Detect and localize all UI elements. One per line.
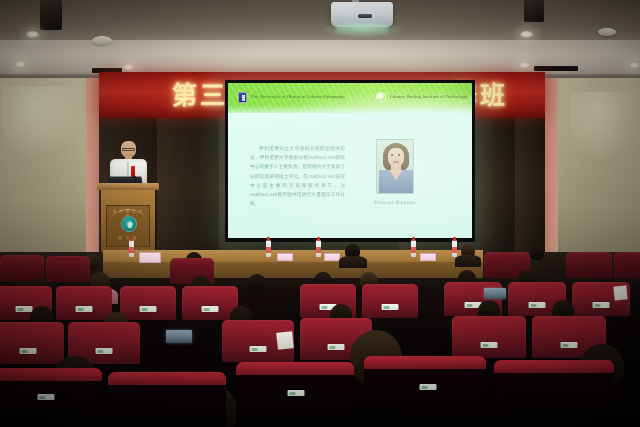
portrait-mouth [393,161,399,163]
water-bottle [316,240,321,257]
downlight-5 [518,62,531,69]
downlight-6 [628,62,640,69]
audience-paper [276,331,294,350]
seat[interactable] [614,252,640,278]
name-card [139,252,161,263]
foreground-seat-top [0,368,102,381]
water-bottle [411,240,416,257]
seat-number-label [202,306,219,312]
slide-body: 伊利诺伊州立大学香槟分校职业图书馆员，伊利诺伊大学香槟分校mathsci.net… [228,113,472,238]
seat[interactable] [0,322,64,364]
slide-paragraph: 伊利诺伊州立大学香槟分校职业图书馆员，伊利诺伊大学香槟分校mathsci.net… [250,145,345,209]
head-table-front [103,262,483,278]
audience-laptop [484,288,506,299]
seat-number-label [288,390,305,396]
bit-seal-logo-icon [376,92,386,102]
right-wall-light-glow [570,92,636,158]
portrait-caption: Eleanor Dickson [368,201,422,206]
seat-number-label [140,306,157,312]
foreground-seat-top [494,360,614,373]
seat-number-label [96,348,113,354]
name-card [324,253,340,261]
downlight-1 [26,31,39,38]
seat[interactable] [120,286,176,320]
slide-header-right-institution: Library, Beijing Institute of Technology [390,93,468,101]
seat-number-label [529,302,546,308]
seat-number-label [328,344,345,350]
presenter-portrait-photo [376,139,414,194]
projection-screen: The University of Illinois at Urbana-Cha… [228,83,472,238]
downlight-4 [520,31,533,38]
seat-number-label [420,384,437,390]
glasses-icon [122,148,135,151]
ceiling-vent-right [598,28,616,36]
water-bottle [452,240,457,257]
auditorium-scene: 第三 修班 The University of Illinois at Urba… [0,0,640,427]
downlight-2 [14,61,27,68]
projector-light-beam [336,26,388,36]
ceiling-light-slot-right [534,66,578,71]
audience-paper [613,285,627,300]
seat[interactable] [566,252,612,278]
slide-header-left-institution: The University of Illinois at Urbana-Cha… [251,93,345,101]
audience-shoulders [339,256,367,268]
seat-number-label [382,304,399,310]
seat[interactable] [56,286,112,320]
water-bottle [266,240,271,257]
audience-head [248,274,266,292]
institution-crest-icon [121,216,137,232]
podium-top-surface [97,183,159,190]
audience-laptop [166,330,192,343]
seat-number-label [561,342,578,348]
podium-department-name: 图 书 馆 [111,235,145,240]
ceiling-vent-left [92,36,112,45]
audience-head [530,246,544,260]
ceiling-speaker-right [524,0,544,22]
banner-text-left: 第三 [172,80,228,112]
name-card [420,253,436,261]
foreground-seat-top [236,362,354,375]
ceiling-speaker-left [40,0,62,30]
seat[interactable] [362,284,418,318]
projector-lens [358,14,372,18]
seat[interactable] [452,316,526,358]
seat-number-label [38,394,55,400]
left-wall-light-glow [2,86,82,156]
seat-number-label [76,306,93,312]
name-card [277,253,293,261]
downlight-3 [122,64,135,71]
illinois-block-i-logo-icon [238,92,247,103]
foreground-seat-top [364,356,486,369]
seat-number-label [20,348,37,354]
seat-number-label [16,306,33,312]
water-bottle [129,240,134,257]
seat-number-label [481,342,498,348]
seat-number-label [593,302,610,308]
seat[interactable] [46,256,90,282]
audience-shoulders [455,255,481,267]
seat-number-label [250,346,267,352]
foreground-seat-top [108,372,226,385]
